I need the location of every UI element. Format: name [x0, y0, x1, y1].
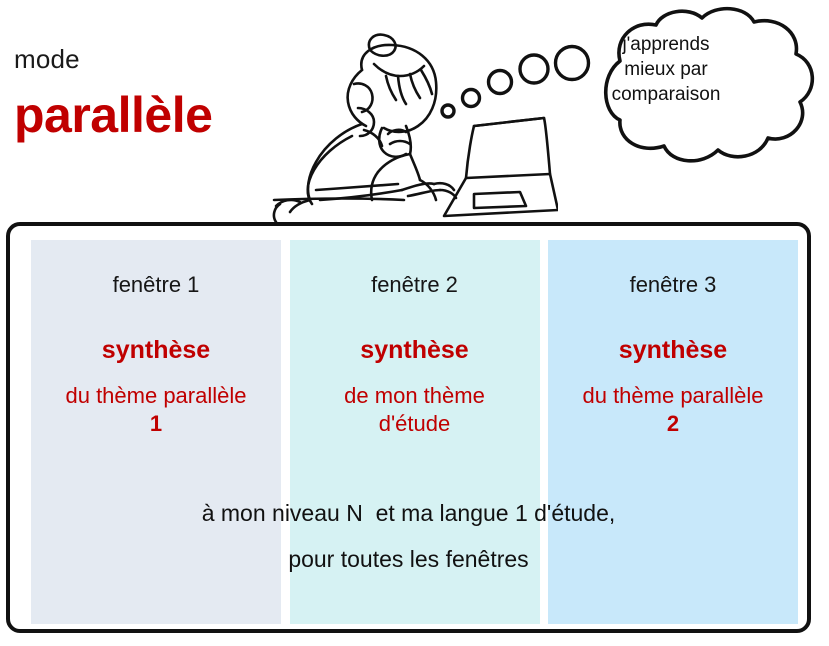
- window-panel-3[interactable]: fenêtre 3 synthèse du thème parallèle 2: [548, 240, 798, 624]
- panel-2-subtitle: de mon thème d'étude: [290, 382, 540, 438]
- mode-label: mode: [14, 44, 80, 75]
- slide-root: mode parallèle: [0, 0, 829, 646]
- panel-1-sub-line-1: du thème parallèle: [31, 382, 281, 410]
- panel-2-sub-line-1: de mon thème: [290, 382, 540, 410]
- header-area: mode parallèle: [0, 0, 829, 222]
- window-panel-2[interactable]: fenêtre 2 synthèse de mon thème d'étude: [290, 240, 540, 624]
- panel-2-synthesis: synthèse: [290, 336, 540, 364]
- panel-1-synthesis: synthèse: [31, 336, 281, 364]
- panel-3-subtitle: du thème parallèle 2: [548, 382, 798, 438]
- panel-3-title: fenêtre 3: [548, 272, 798, 298]
- panel-2-title: fenêtre 2: [290, 272, 540, 298]
- thought-line-1: j'apprends: [571, 32, 761, 57]
- panel-2-sub-line-2: d'étude: [290, 410, 540, 438]
- panel-1-sub-line-2: 1: [31, 410, 281, 438]
- mode-title: parallèle: [14, 86, 212, 144]
- window-panel-1[interactable]: fenêtre 1 synthèse du thème parallèle 1: [31, 240, 281, 624]
- panel-1-title: fenêtre 1: [31, 272, 281, 298]
- thought-line-2: mieux par: [571, 57, 761, 82]
- panel-3-synthesis: synthèse: [548, 336, 798, 364]
- thought-line-3: comparaison: [571, 82, 761, 107]
- window-panels: fenêtre 1 synthèse du thème parallèle 1 …: [31, 240, 798, 624]
- windows-board: fenêtre 1 synthèse du thème parallèle 1 …: [6, 222, 811, 633]
- panel-3-sub-line-1: du thème parallèle: [548, 382, 798, 410]
- thought-bubble-text: j'apprends mieux par comparaison: [571, 32, 761, 107]
- panel-1-subtitle: du thème parallèle 1: [31, 382, 281, 438]
- panel-3-sub-line-2: 2: [548, 410, 798, 438]
